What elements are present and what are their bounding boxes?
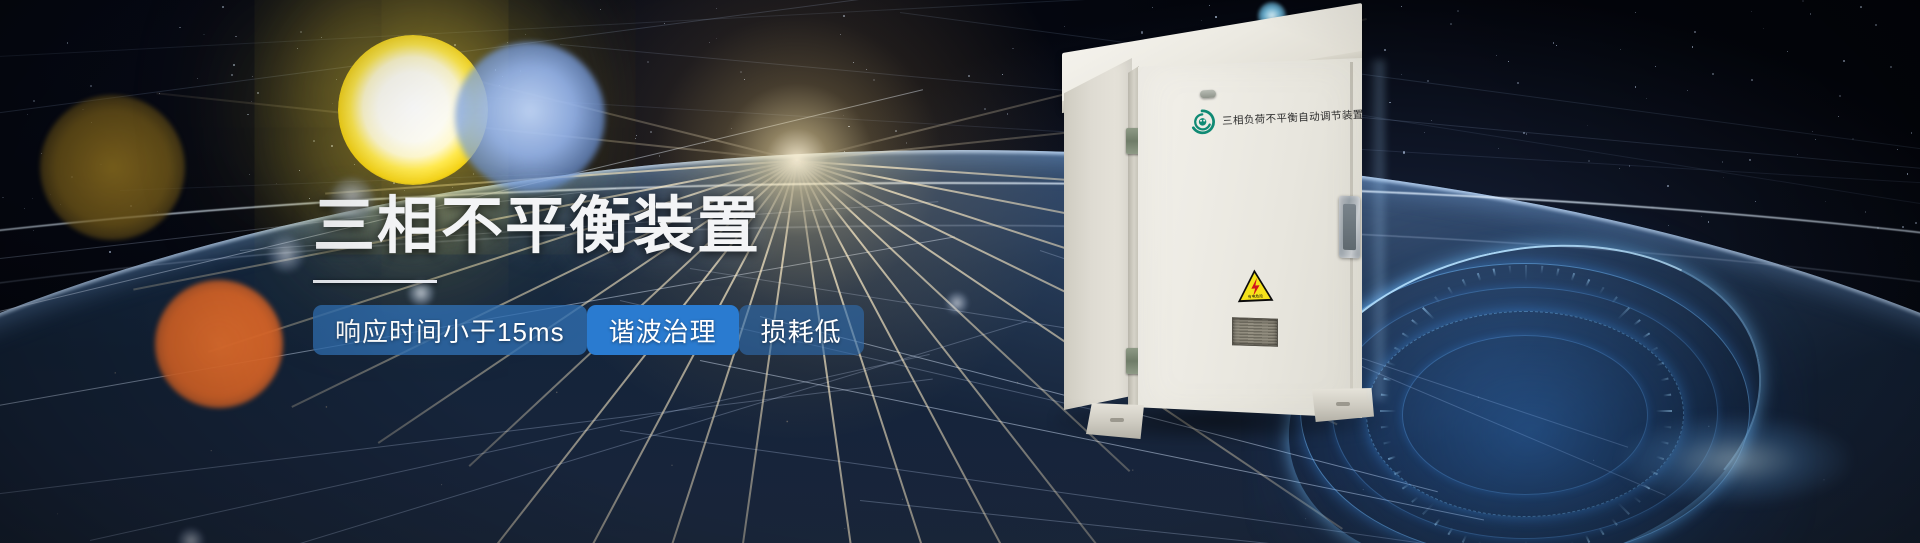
page-title: 三相不平衡装置 [313, 196, 933, 258]
latitude-band-secondary [0, 225, 1920, 543]
svg-text:有电危险: 有电危险 [1248, 293, 1264, 299]
ventilation-grille-icon [1232, 317, 1278, 347]
cabinet-foot-slot-right [1336, 402, 1350, 406]
banner-copy-block: 三相不平衡装置 响应时间小于15ms谐波治理损耗低 [313, 196, 933, 355]
cabinet-nameplate-text: 三相负荷不平衡自动调节装置 [1222, 107, 1364, 128]
title-underline-rule [313, 280, 437, 283]
cabinet-foot-slot-left [1110, 418, 1124, 422]
product-cabinet: 三相负荷不平衡自动调节装置 有电危险 [1050, 18, 1380, 438]
cabinet-side-panel [1064, 58, 1132, 410]
feature-pill-row: 响应时间小于15ms谐波治理损耗低 [313, 305, 933, 355]
door-handle-recess [1343, 204, 1356, 250]
cabinet-latch-icon [1200, 90, 1216, 99]
product-hero-banner: 三相负荷不平衡自动调节装置 有电危险 三相不平衡装置 响应时间小于15ms谐波治… [0, 0, 1920, 543]
high-voltage-warning-icon: 有电危险 [1235, 267, 1274, 304]
feature-pill-2[interactable]: 谐波治理 [587, 305, 739, 355]
circular-leaf-logo-icon [1190, 109, 1216, 135]
feature-pill-1[interactable]: 响应时间小于15ms [313, 305, 587, 355]
feature-pill-3[interactable]: 损耗低 [739, 305, 864, 355]
